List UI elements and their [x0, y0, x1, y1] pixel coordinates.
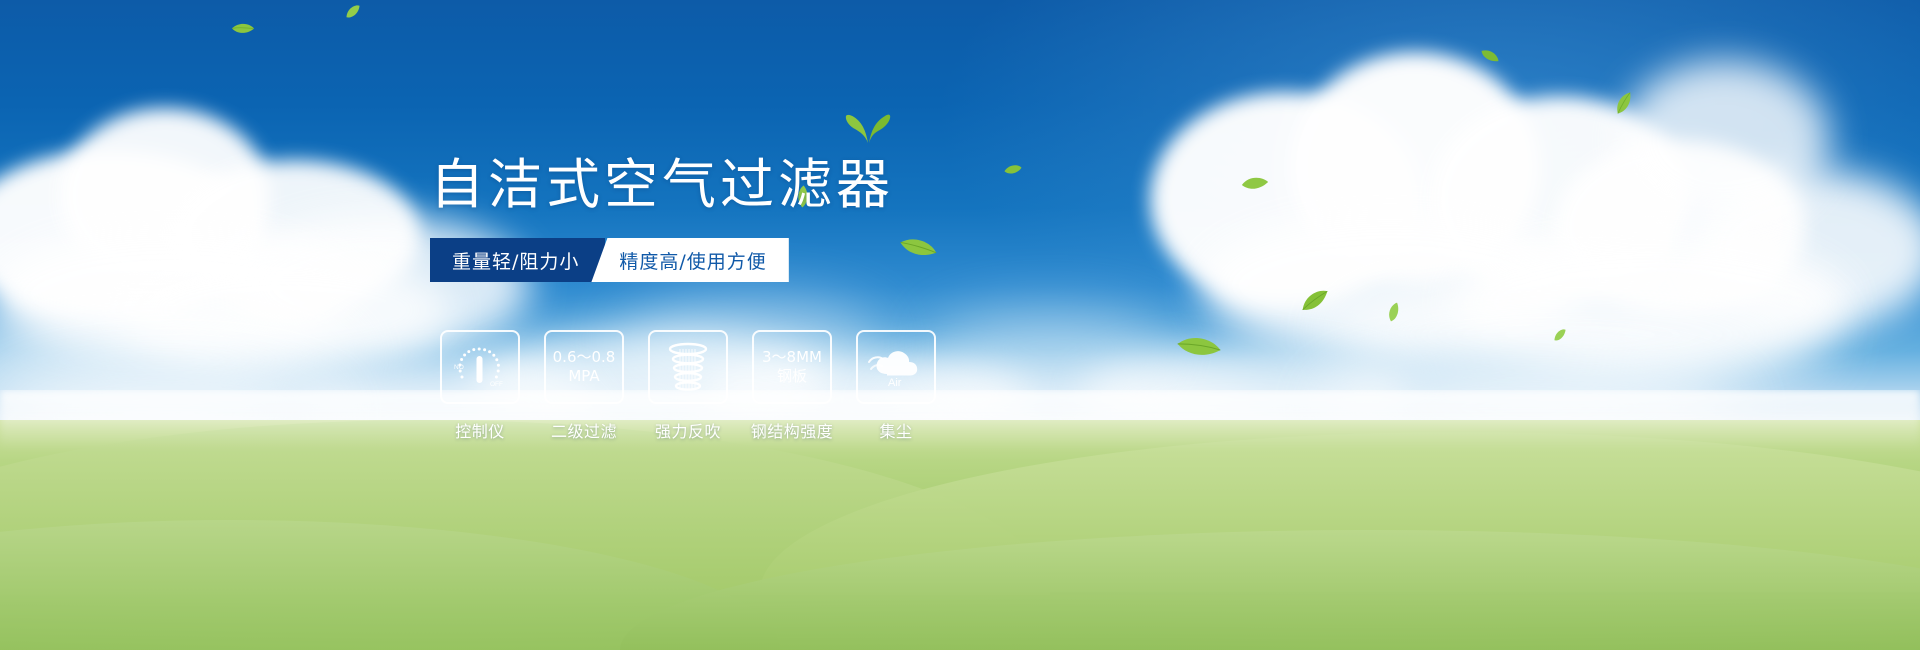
feature-box [648, 330, 728, 404]
steel-plate-label: 钢板 [777, 367, 807, 386]
banner-content: 自洁式空气过滤器 重量轻/阻力小 精度高/使用方便 [0, 0, 1920, 650]
feature-label-controller: 控制仪 [455, 418, 505, 442]
badge-lightweight: 重量轻/阻力小 [430, 238, 605, 282]
feature-label-dust-collection: 集尘 [879, 418, 912, 442]
dial-on-label: NO [454, 364, 464, 371]
feature-item: 3～8MM 钢板 钢结构强度 [752, 330, 832, 442]
feature-item: Air 集尘 [856, 330, 936, 442]
feature-icon-row: NO OFF 控制仪 0.6～0.8 MPA 二级过滤 [440, 330, 936, 442]
hero-banner: 自洁式空气过滤器 重量轻/阻力小 精度高/使用方便 [0, 0, 1920, 650]
feature-badge-group: 重量轻/阻力小 精度高/使用方便 [430, 238, 789, 282]
feature-item: NO OFF 控制仪 [440, 330, 520, 442]
feature-box: 0.6～0.8 MPA [544, 330, 624, 404]
air-text-label: Air [888, 377, 902, 389]
badge-precision: 精度高/使用方便 [591, 238, 788, 282]
steel-thickness-value: 3～8MM [762, 348, 822, 367]
feature-box: NO OFF [440, 330, 520, 404]
feature-label-steel-strength: 钢结构强度 [751, 418, 834, 442]
feature-label-strong-backblow: 强力反吹 [655, 418, 721, 442]
feature-label-two-stage-filter: 二级过滤 [551, 418, 617, 442]
page-title: 自洁式空气过滤器 [430, 140, 894, 219]
control-dial-icon: NO OFF [452, 341, 508, 393]
pressure-unit: MPA [568, 367, 599, 386]
feature-item: 强力反吹 [648, 330, 728, 442]
filter-cartridge-icon [662, 339, 714, 395]
feature-item: 0.6～0.8 MPA 二级过滤 [544, 330, 624, 442]
air-cloud-icon: Air [867, 344, 925, 390]
feature-box: 3～8MM 钢板 [752, 330, 832, 404]
pressure-value: 0.6～0.8 [553, 348, 616, 367]
feature-box: Air [856, 330, 936, 404]
dial-off-label: OFF [490, 381, 503, 388]
